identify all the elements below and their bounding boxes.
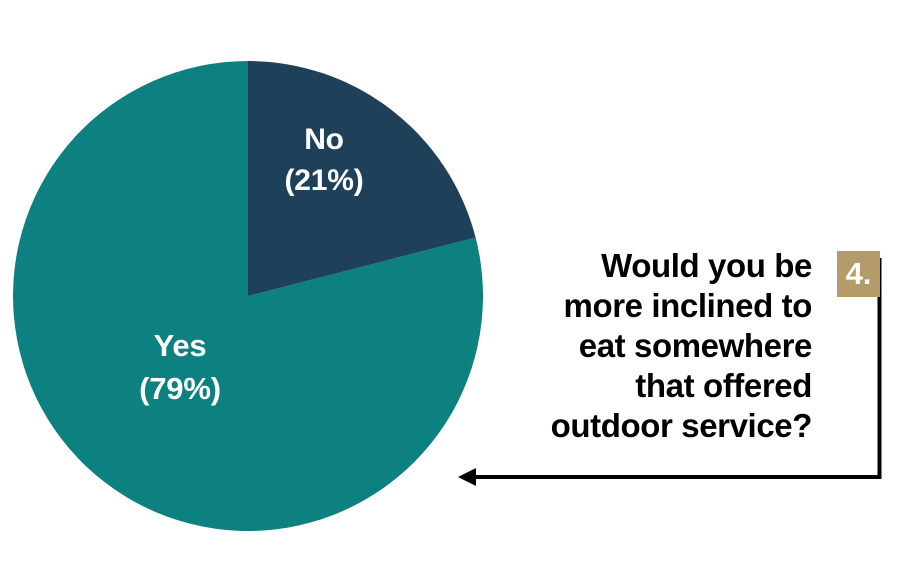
pie-slice-label-yes: Yes (79%)	[100, 328, 260, 407]
question-text: Would you be more inclined to eat somewh…	[500, 246, 812, 446]
pie-slice-label-no-name: No	[244, 122, 404, 157]
pie-slice-label-yes-name: Yes	[100, 328, 260, 365]
pie-chart-svg	[0, 0, 520, 562]
pie-slice-label-no: No (21%)	[244, 122, 404, 199]
question-block: Would you be more inclined to eat somewh…	[500, 246, 812, 446]
pie-slice-label-no-percent: (21%)	[244, 163, 404, 198]
pie-chart: No (21%) Yes (79%)	[0, 0, 520, 562]
slide-canvas: No (21%) Yes (79%) Would you be more inc…	[0, 0, 920, 562]
pie-slice-label-yes-percent: (79%)	[100, 371, 260, 408]
question-number-badge: 4.	[837, 251, 880, 297]
